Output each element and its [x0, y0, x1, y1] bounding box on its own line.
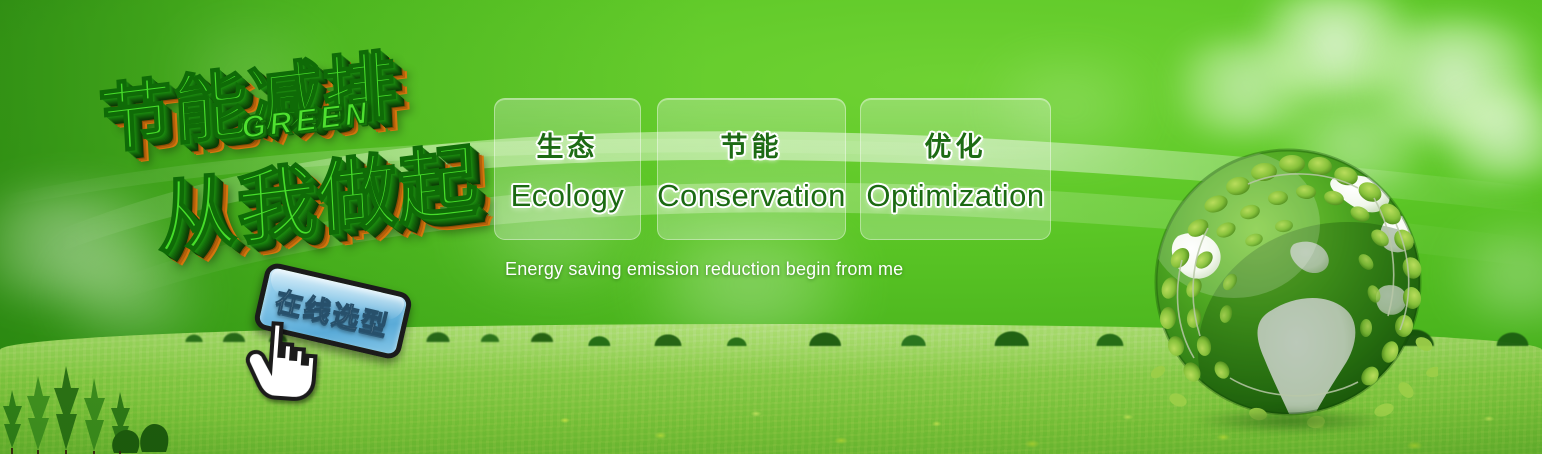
vignette-overlay [0, 0, 1542, 454]
eco-promo-banner: 节能减排 GREEN 从我做起 在线选型 生态 Ecology 节能 Conse… [0, 0, 1542, 454]
